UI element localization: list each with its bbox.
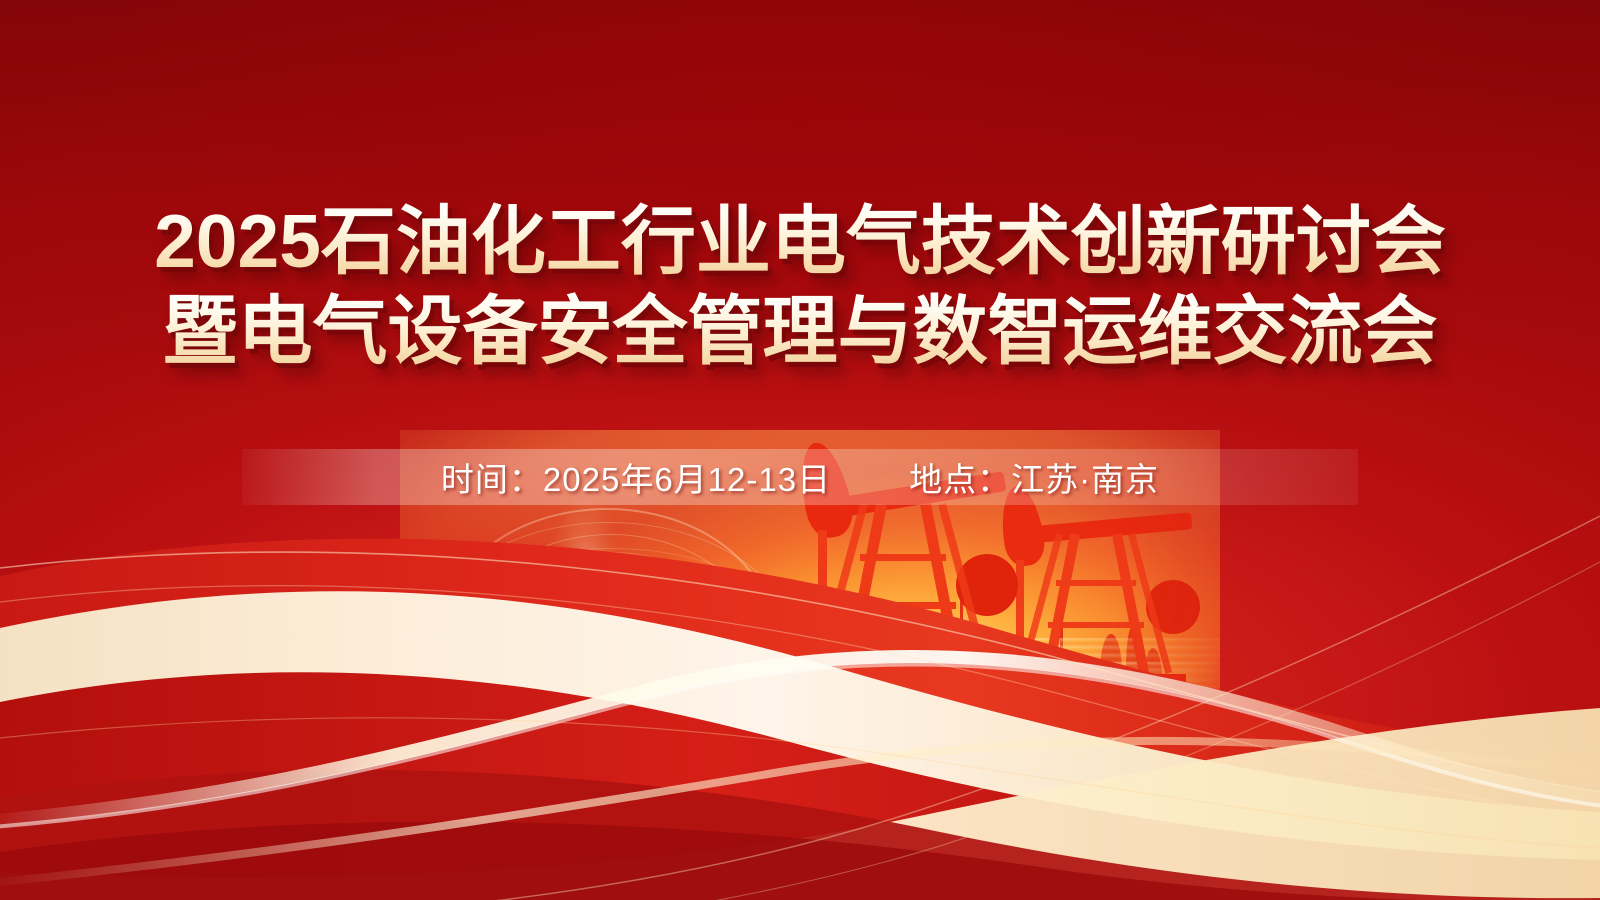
event-location: 地点：江苏·南京 <box>909 453 1159 501</box>
event-date: 时间：2025年6月12-13日 <box>441 453 831 501</box>
event-info-bar: 时间：2025年6月12-13日 地点：江苏·南京 <box>242 449 1358 505</box>
conference-banner: 2025石油化工行业电气技术创新研讨会 暨电气设备安全管理与数智运维交流会 时间… <box>0 0 1600 900</box>
ribbon-waves <box>0 480 1600 900</box>
